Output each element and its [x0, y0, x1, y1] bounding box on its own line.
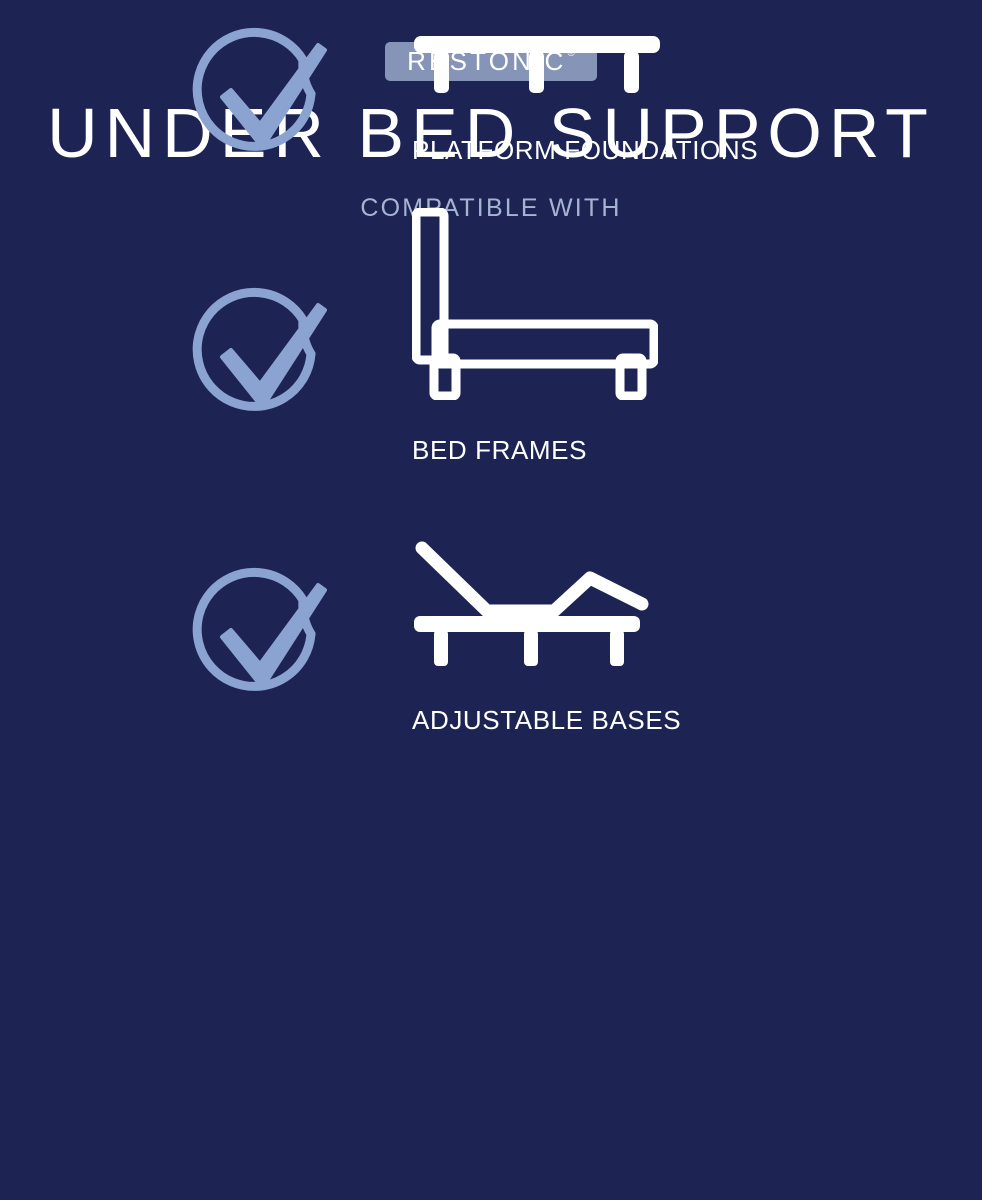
check-circle-icon-svg	[186, 280, 336, 430]
feature-item-platform-foundations: PLATFORM FOUNDATIONS	[412, 34, 758, 166]
check-circle-icon-svg	[186, 20, 336, 170]
check-circle-icon	[186, 560, 336, 710]
platform-foundation-icon	[412, 34, 758, 101]
adjustable-base-icon-svg	[412, 538, 652, 668]
feature-item-bed-frames: BED FRAMES	[412, 208, 658, 466]
adjustable-base-icon	[412, 538, 681, 673]
under-bed-support-infographic: RESTONIC ® UNDER BED SUPPORT COMPATIBLE …	[0, 0, 982, 1200]
feature-label: PLATFORM FOUNDATIONS	[412, 135, 758, 166]
bed-frame-icon	[412, 208, 658, 405]
check-circle-icon	[186, 20, 336, 170]
feature-label: BED FRAMES	[412, 435, 658, 466]
bed-frame-icon-svg	[412, 208, 658, 400]
check-circle-icon-svg	[186, 560, 336, 710]
feature-label: ADJUSTABLE BASES	[412, 705, 681, 736]
feature-item-adjustable-bases: ADJUSTABLE BASES	[412, 538, 681, 736]
check-circle-icon	[186, 280, 336, 430]
platform-foundation-icon-svg	[412, 34, 662, 96]
